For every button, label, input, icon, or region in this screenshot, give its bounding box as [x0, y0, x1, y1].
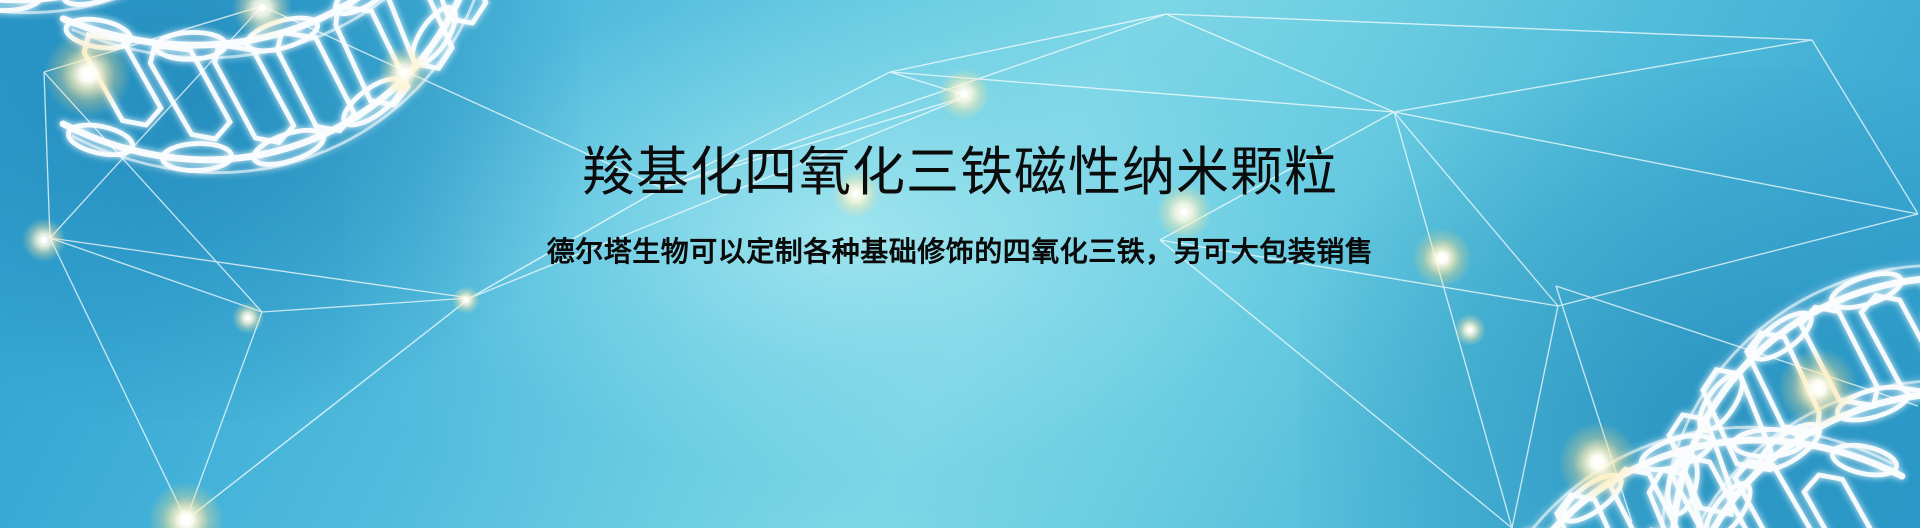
banner-background-gradient [0, 0, 1920, 528]
product-banner: 羧基化四氧化三铁磁性纳米颗粒 德尔塔生物可以定制各种基础修饰的四氧化三铁，另可大… [0, 0, 1920, 528]
